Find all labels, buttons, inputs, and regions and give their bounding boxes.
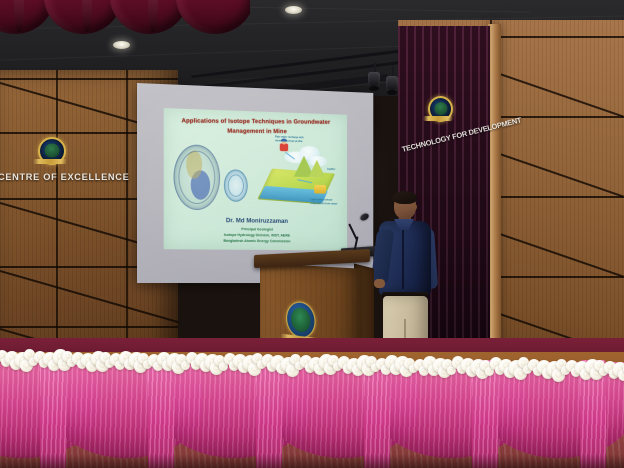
- auditorium-stage-photo: CENTRE OF EXCELLENCE TECHNOLOGY FOR DEVE…: [0, 0, 624, 468]
- drape-sash: [40, 360, 66, 468]
- recessed-downlight: [113, 41, 130, 49]
- stage-spotlight: [368, 72, 380, 88]
- drape-sash: [256, 360, 282, 468]
- foreground-shadow: [0, 454, 624, 468]
- white-flower-garland: [0, 344, 624, 374]
- speaker-ear: [413, 204, 417, 210]
- recessed-downlight: [285, 6, 302, 14]
- drape-sash: [364, 360, 390, 468]
- presenter-organization: Bangladesh Atomic Energy Commission: [170, 237, 342, 245]
- mine-groundwater-diagram: Rain water recharge with meteoric isotop…: [256, 137, 341, 212]
- diagram-pump-equipment: [314, 185, 326, 194]
- left-wall-sign-text: CENTRE OF EXCELLENCE: [0, 172, 129, 182]
- speaker-hair: [393, 191, 417, 204]
- right-wall-crest-ribbon: [423, 116, 453, 121]
- diagram-label: Rain water recharge with meteoric isotop…: [275, 135, 312, 143]
- slide-presenter-block: Dr. Md Moniruzzaman Principal Geologist …: [170, 216, 342, 245]
- slide-title-line-2: Management in Mine: [170, 126, 342, 137]
- left-wall-crest-ribbon: [33, 159, 67, 164]
- institution-seal-icon: [224, 169, 248, 202]
- slide-title: Applications of Isotope Techniques in Gr…: [169, 116, 341, 136]
- speaker-shirt-placket: [402, 227, 404, 289]
- globe-hydrology-logo-icon: [174, 144, 221, 210]
- drape-sash: [148, 360, 174, 468]
- stage-spotlight: [386, 76, 398, 92]
- presentation-slide: Applications of Isotope Techniques in Gr…: [164, 108, 347, 251]
- diagram-label: Light water isotope evaporation from see…: [310, 198, 341, 205]
- slide-title-line-1: Applications of Isotope Techniques in Gr…: [169, 116, 341, 127]
- diagram-label: Aquifer: [327, 168, 335, 172]
- speaker-hand: [374, 279, 385, 288]
- diagram-mountain: [309, 160, 326, 178]
